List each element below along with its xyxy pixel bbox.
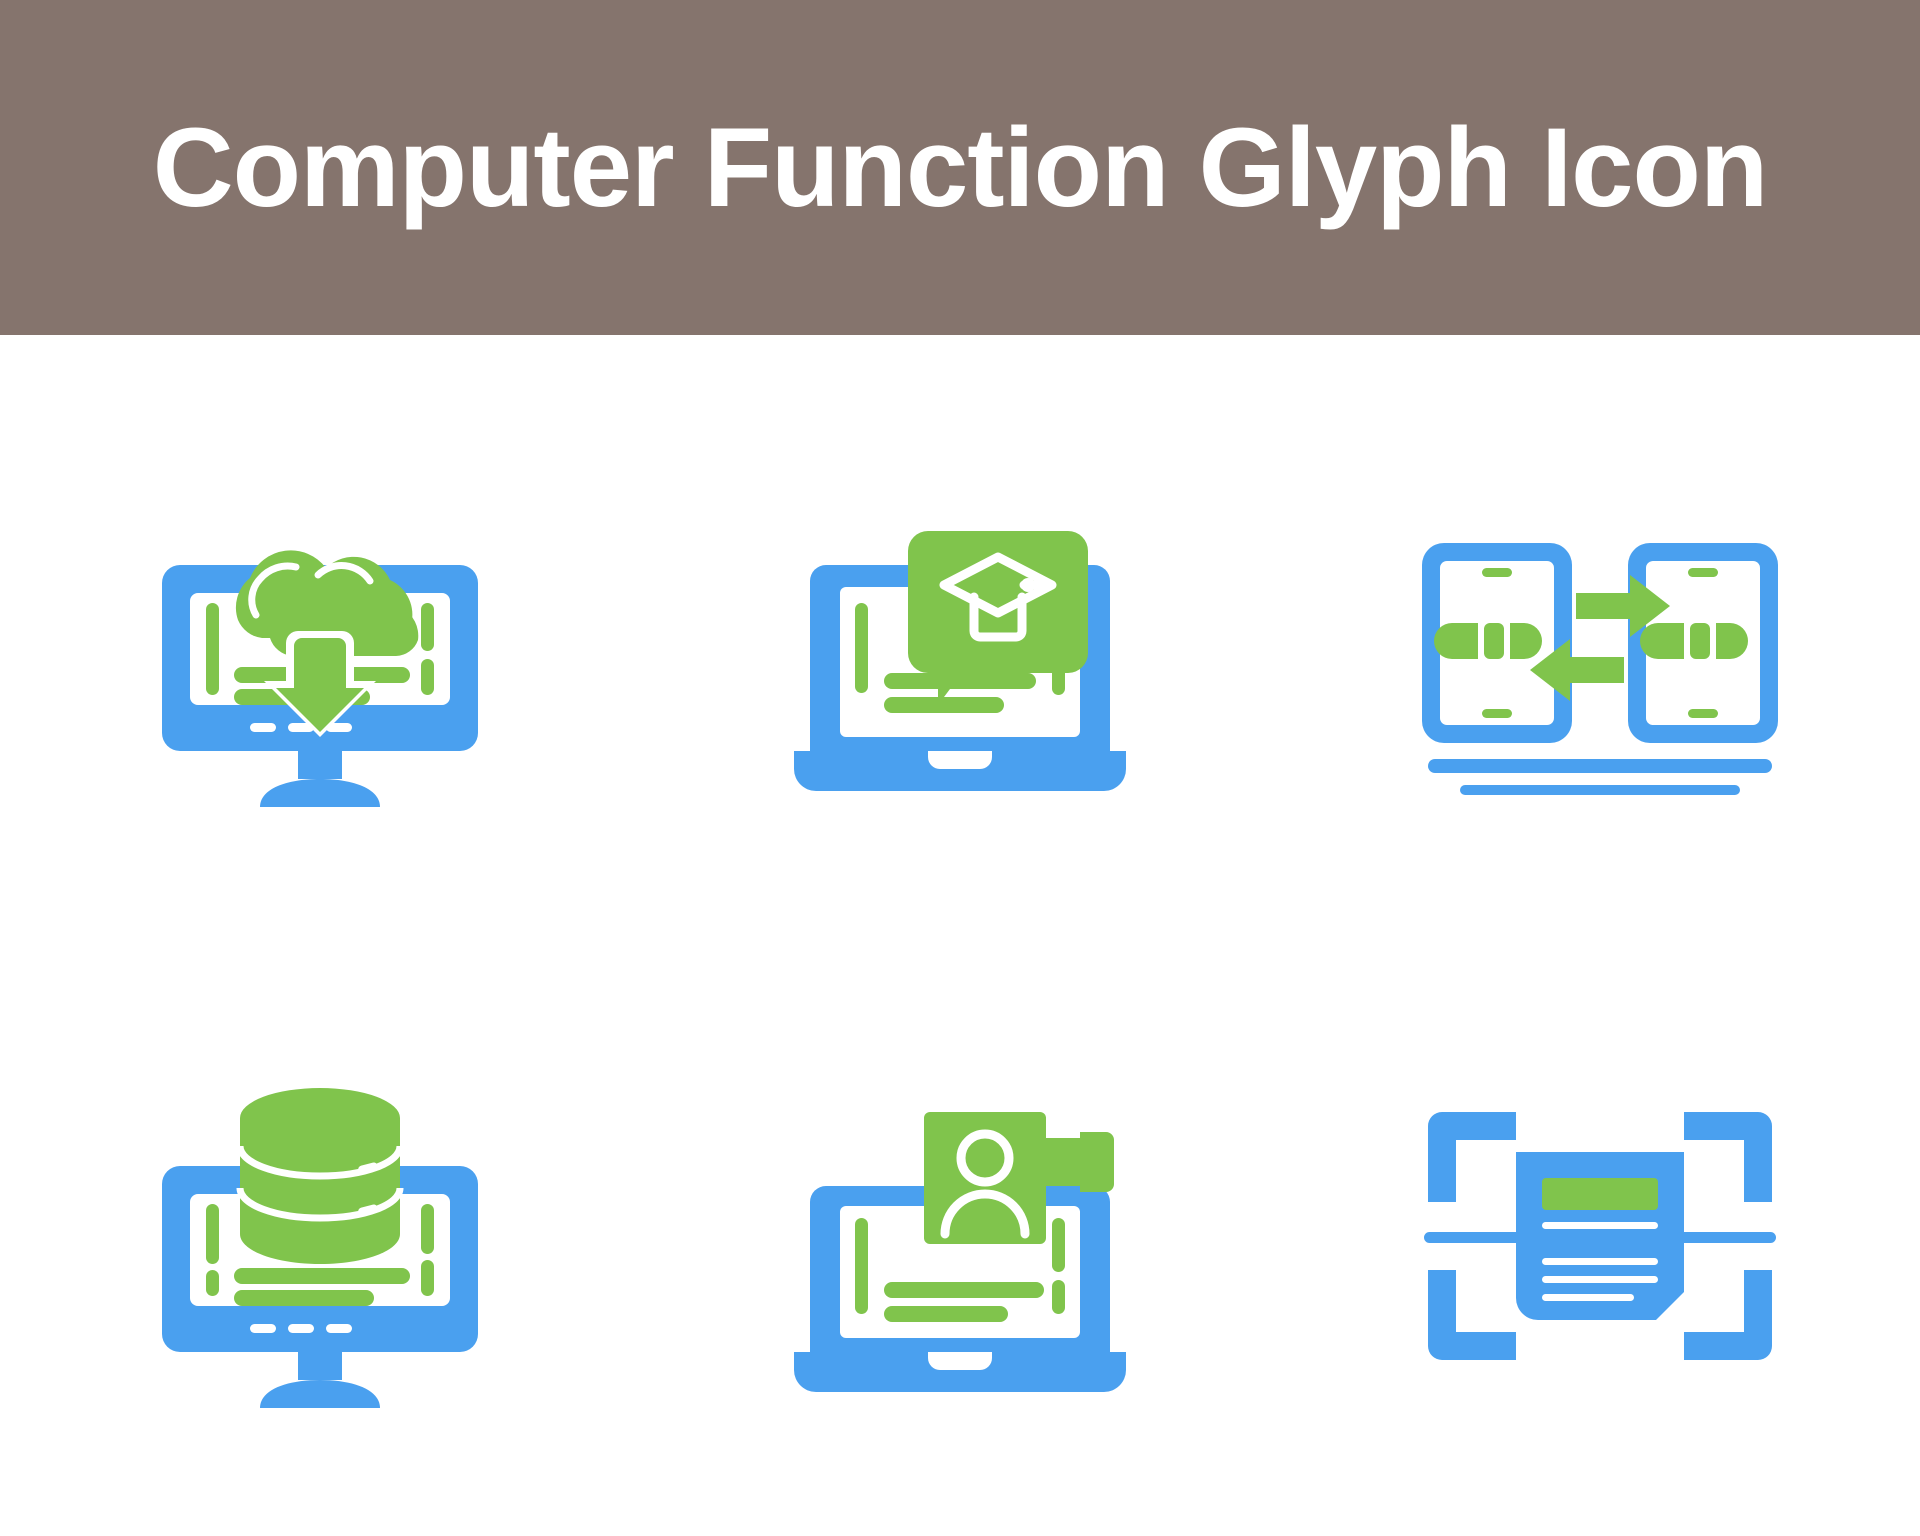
video-conference-laptop-icon [760,1036,1160,1436]
icon-device-data-sync[interactable] [1280,335,1920,936]
icon-sheet-page: Computer Function Glyph Icon [0,0,1920,1536]
icon-document-scanner[interactable] [1280,936,1920,1536]
icon-video-conference-laptop[interactable] [640,936,1280,1536]
database-monitor-icon [120,1036,520,1436]
page-header: Computer Function Glyph Icon [0,0,1920,335]
icon-grid [0,335,1920,1536]
document-scanner-icon [1400,1036,1800,1436]
cloud-download-monitor-icon [120,435,520,835]
device-data-sync-icon [1400,435,1800,835]
online-education-laptop-icon [760,435,1160,835]
icon-cloud-download-monitor[interactable] [0,335,640,936]
icon-online-education-laptop[interactable] [640,335,1280,936]
page-title: Computer Function Glyph Icon [153,112,1768,224]
icon-database-monitor[interactable] [0,936,640,1536]
